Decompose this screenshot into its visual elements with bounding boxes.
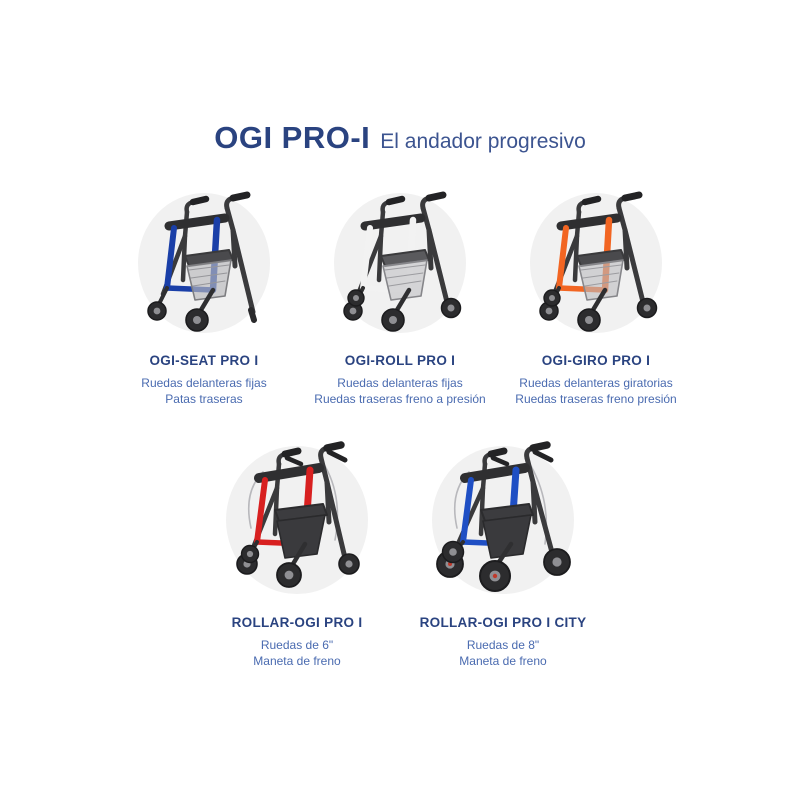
product-row-bottom: ROLLAR-OGI PRO I Ruedas de 6" Maneta de …	[0, 431, 800, 669]
product-figure	[202, 431, 392, 609]
product-features: Ruedas delanteras fijas Patas traseras	[141, 375, 266, 407]
product-feature: Ruedas de 8"	[420, 637, 587, 653]
product-name: ROLLAR-OGI PRO I CITY	[420, 615, 587, 630]
product-feature: Ruedas traseras freno presión	[515, 391, 676, 407]
product-caption: ROLLAR-OGI PRO I CITY Ruedas de 8" Manet…	[420, 615, 587, 669]
product-features: Ruedas delanteras giratorias Ruedas tras…	[515, 375, 676, 407]
product-features: Ruedas de 6" Maneta de freno	[232, 637, 363, 669]
product-row-top: OGI-SEAT PRO I Ruedas delanteras fijas P…	[0, 179, 800, 407]
product-caption: OGI-ROLL PRO I Ruedas delanteras fijas R…	[314, 353, 485, 407]
product-name: OGI-ROLL PRO I	[314, 353, 485, 368]
product-card-rollar-ogi-pro-i-city[interactable]: ROLLAR-OGI PRO I CITY Ruedas de 8" Manet…	[403, 431, 603, 669]
walker-illustration-ogi-roll-pro-i	[325, 184, 475, 342]
product-figure	[109, 179, 299, 347]
walker-illustration-ogi-giro-pro-i	[521, 184, 671, 342]
product-figure	[501, 179, 691, 347]
product-card-ogi-seat-pro-i[interactable]: OGI-SEAT PRO I Ruedas delanteras fijas P…	[109, 179, 299, 407]
product-feature: Maneta de freno	[420, 653, 587, 669]
product-caption: ROLLAR-OGI PRO I Ruedas de 6" Maneta de …	[232, 615, 363, 669]
product-name: ROLLAR-OGI PRO I	[232, 615, 363, 630]
product-feature: Ruedas delanteras fijas	[141, 375, 266, 391]
walker-illustration-ogi-seat-pro-i	[129, 184, 279, 342]
product-figure	[305, 179, 495, 347]
product-features: Ruedas delanteras fijas Ruedas traseras …	[314, 375, 485, 407]
product-caption: OGI-GIRO PRO I Ruedas delanteras girator…	[515, 353, 676, 407]
product-feature: Ruedas de 6"	[232, 637, 363, 653]
product-feature: Ruedas traseras freno a presión	[314, 391, 485, 407]
product-figure	[408, 431, 598, 609]
title-block: OGI PRO-IEl andador progresivo	[214, 122, 586, 153]
product-card-ogi-giro-pro-i[interactable]: OGI-GIRO PRO I Ruedas delanteras girator…	[501, 179, 691, 407]
walker-illustration-rollar-ogi-pro-i	[217, 436, 377, 604]
product-feature: Maneta de freno	[232, 653, 363, 669]
product-name: OGI-GIRO PRO I	[515, 353, 676, 368]
walker-illustration-rollar-ogi-pro-i-city	[423, 436, 583, 604]
product-feature: Ruedas delanteras fijas	[314, 375, 485, 391]
product-features: Ruedas de 8" Maneta de freno	[420, 637, 587, 669]
product-feature: Ruedas delanteras giratorias	[515, 375, 676, 391]
product-caption: OGI-SEAT PRO I Ruedas delanteras fijas P…	[141, 353, 266, 407]
page-title: OGI PRO-I	[214, 120, 370, 155]
page-subtitle: El andador progresivo	[380, 130, 585, 153]
product-feature: Patas traseras	[141, 391, 266, 407]
page-header: OGI PRO-IEl andador progresivo	[0, 0, 800, 153]
product-card-rollar-ogi-pro-i[interactable]: ROLLAR-OGI PRO I Ruedas de 6" Maneta de …	[197, 431, 397, 669]
product-card-ogi-roll-pro-i[interactable]: OGI-ROLL PRO I Ruedas delanteras fijas R…	[305, 179, 495, 407]
product-name: OGI-SEAT PRO I	[141, 353, 266, 368]
